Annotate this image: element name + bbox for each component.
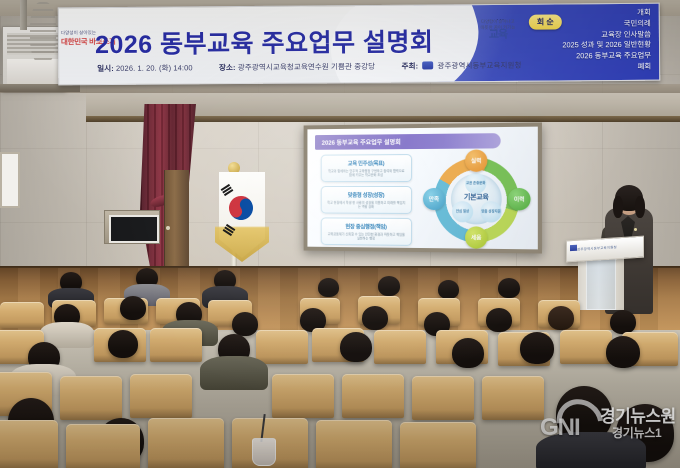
slide-box-2-desc: 교육공동체가 신뢰할 수 있는 안전한 환경과 따뜻하고 책임을 실현하는 행정 xyxy=(322,232,411,241)
wall-monitor xyxy=(104,210,160,244)
chair[interactable] xyxy=(560,330,612,364)
wall-picture-frame xyxy=(0,152,20,208)
banner-place-value: 광주광역시교육청교육연수원 기쁨관 중강당 xyxy=(238,62,375,72)
podium-label: 광주광역시동부교육지원청 xyxy=(577,244,617,251)
slide-diagram-petal-1: 안심 일상 xyxy=(452,201,473,222)
banner-place-label: 장소: xyxy=(219,63,236,72)
slide-header-bar: 2026 동부교육 주요업무 설명회 xyxy=(315,133,501,150)
chair[interactable] xyxy=(66,424,140,468)
slide-diagram-node-right: 이력 xyxy=(508,188,531,210)
chair[interactable] xyxy=(316,420,392,468)
audience-head xyxy=(232,312,258,336)
hvac-body xyxy=(7,59,61,85)
projection-screen: 2026 동부교육 주요업무 설명회 교육 민주성(목표) 학교와 함께하는 민… xyxy=(307,127,537,250)
audience-shoulder xyxy=(200,356,268,390)
audience-head xyxy=(438,280,459,299)
agenda-item-4: 2026 동부교육 주요업무 xyxy=(461,51,651,63)
speaker-lapel-pin-icon xyxy=(634,228,637,231)
chair[interactable] xyxy=(374,330,426,364)
watermark-line2: 경기뉴스1 xyxy=(612,424,661,441)
chair[interactable] xyxy=(150,328,202,362)
slide-diagram-node-bottom: 세움 xyxy=(465,226,487,248)
projection-screen-frame: 2026 동부교육 주요업무 설명회 교육 민주성(목표) 학교와 함께하는 민… xyxy=(304,122,542,253)
audience-head xyxy=(606,336,640,368)
event-banner: 다양성이 살아있는 대한민국 바로쓰기 2026 동부교육 주요업무 설명회 일… xyxy=(58,3,661,86)
slide-box-1: 맞춤형 성장(성장) 학교 현장에서 학생 한 사람의 성장을 지원하고 미래를… xyxy=(321,186,412,214)
chair[interactable] xyxy=(60,376,122,420)
wall-monitor-screen xyxy=(109,215,159,243)
slide-diagram-petal-0: 교권 존중문화 xyxy=(465,173,486,194)
audience-head xyxy=(378,276,400,296)
host-emblem-icon xyxy=(422,61,433,69)
audience-head xyxy=(318,278,339,297)
audience-head xyxy=(108,330,138,358)
chair[interactable] xyxy=(412,376,474,420)
chair[interactable] xyxy=(0,302,44,328)
news-watermark: GNI 경기뉴스원 경기뉴스1 xyxy=(540,398,680,456)
slide-diagram-petal-2: 맞춤 성장지원 xyxy=(480,201,501,222)
chair[interactable] xyxy=(342,374,404,418)
chair[interactable] xyxy=(400,422,476,468)
agenda-item-5: 폐회 xyxy=(461,62,651,74)
agenda-list: 개회 국민의례 교육장 인사말씀 2025 성과 및 2026 일반현황 202… xyxy=(461,8,652,74)
hvac-coil-icon xyxy=(30,2,56,64)
chair[interactable] xyxy=(0,420,58,468)
slide-box-0: 교육 민주성(목표) 학교와 함께하는 민주적 교육행정 구현하고 참여와 협력… xyxy=(321,154,412,182)
audience-head xyxy=(452,338,484,368)
audience-head xyxy=(486,308,512,332)
slide-diagram-center-label: 기본교육 xyxy=(451,192,502,202)
audience-head xyxy=(548,306,574,330)
slide-box-2: 현장 중심행정(책임) 교육공동체가 신뢰할 수 있는 안전한 환경과 따뜻하고… xyxy=(321,217,412,245)
chair[interactable] xyxy=(130,374,192,418)
auditorium-photo: 다양성이 살아있는 대한민국 바로쓰기 2026 동부교육 주요업무 설명회 일… xyxy=(0,0,680,468)
slide-box-2-title: 현장 중심행정(책임) xyxy=(322,222,411,231)
chair[interactable] xyxy=(482,376,544,420)
speaker-hair-right xyxy=(635,196,645,218)
watermark-logo: GNI xyxy=(540,414,580,442)
banner-host-label: 주최: xyxy=(402,62,419,71)
audience-head xyxy=(610,310,636,334)
banner-date-value: 2026. 1. 20. (화) 14:00 xyxy=(116,63,193,73)
hvac-pipe xyxy=(20,0,27,30)
slide-body: 교육 민주성(목표) 학교와 함께하는 민주적 교육행정 구현하고 참여와 협력… xyxy=(307,151,537,249)
chair[interactable] xyxy=(256,330,308,364)
audience-head xyxy=(340,332,372,362)
slide-header-title: 2026 동부교육 주요업무 설명회 xyxy=(322,137,401,147)
chair[interactable] xyxy=(148,418,224,468)
ceiling-rail xyxy=(0,84,680,93)
slide-box-1-title: 맞춤형 성장(성장) xyxy=(322,191,411,199)
slide-box-0-desc: 학교와 함께하는 민주적 교육행정 구현하고 참여와 협력으로 함께 키우는 학… xyxy=(322,169,411,178)
slide-box-1-desc: 학교 현장에서 학생 한 사람의 성장을 지원하고 미래를 책임지는 역량 강화 xyxy=(322,201,411,210)
speaker-hair-left xyxy=(613,196,623,218)
door-knob-icon[interactable] xyxy=(166,226,170,230)
audience-head xyxy=(120,296,146,320)
slide-diagram-node-top: 실력 xyxy=(465,149,487,171)
chair[interactable] xyxy=(272,374,334,418)
banner-title: 2026 동부교육 주요업무 설명회 xyxy=(95,22,434,61)
audience-head xyxy=(498,278,520,298)
slide-diagram-node-left: 만족 xyxy=(423,188,445,210)
drink-cup xyxy=(252,438,276,466)
slide-box-0-title: 교육 민주성(목표) xyxy=(322,159,411,167)
audience-head xyxy=(520,332,554,364)
banner-date-label: 일시: xyxy=(97,64,114,73)
podium-emblem-icon xyxy=(570,245,577,251)
audience-head xyxy=(362,306,388,330)
